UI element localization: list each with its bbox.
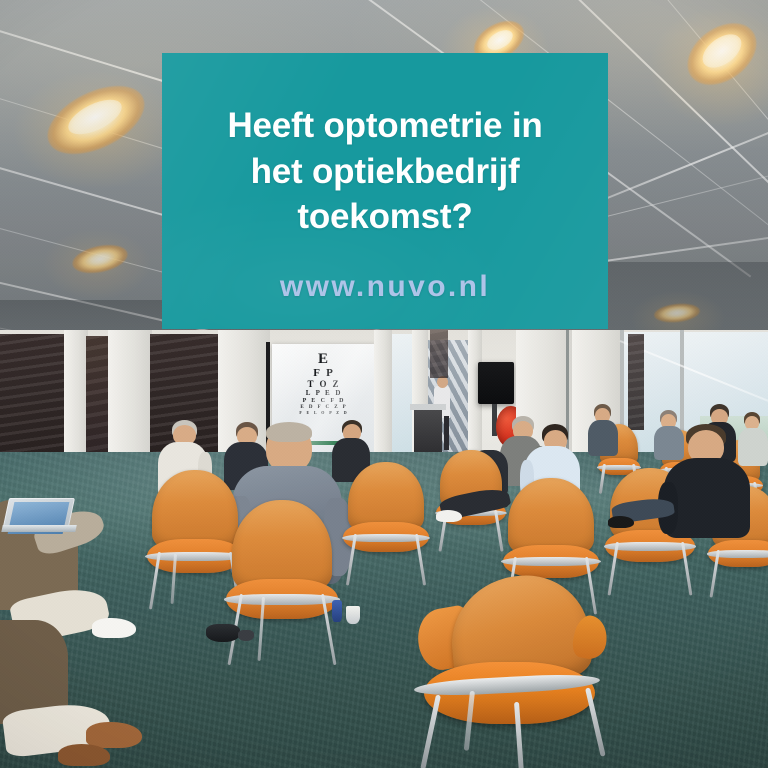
water-bottle: [332, 600, 342, 622]
headline-line-1: Heeft optometrie in: [162, 103, 608, 149]
headline-line-2: het optiekbedrijf: [162, 149, 608, 195]
website-url[interactable]: www.nuvo.nl: [162, 270, 608, 304]
audience-member-legs: [440, 492, 520, 582]
image-canvas: E F P T O Z L P E D P E C F D E D F C Z …: [0, 0, 768, 768]
laptop: [6, 498, 72, 544]
lectern: [414, 408, 442, 454]
wall-monitor: [478, 362, 514, 404]
audience-member: [586, 404, 620, 464]
headline: Heeft optometrie in het optiekbedrijf to…: [162, 103, 608, 240]
window-blind-left: [0, 334, 36, 454]
teal-text-overlay: Heeft optometrie in het optiekbedrijf to…: [162, 53, 608, 329]
audience-member: [612, 470, 682, 600]
coffee-cup: [346, 606, 360, 624]
headline-line-3: toekomst?: [162, 194, 608, 240]
foreground-armchair: [418, 576, 604, 756]
chair: [152, 470, 238, 602]
floor-bag: [206, 624, 240, 642]
chair: [348, 462, 424, 578]
floor-bag: [238, 630, 254, 641]
